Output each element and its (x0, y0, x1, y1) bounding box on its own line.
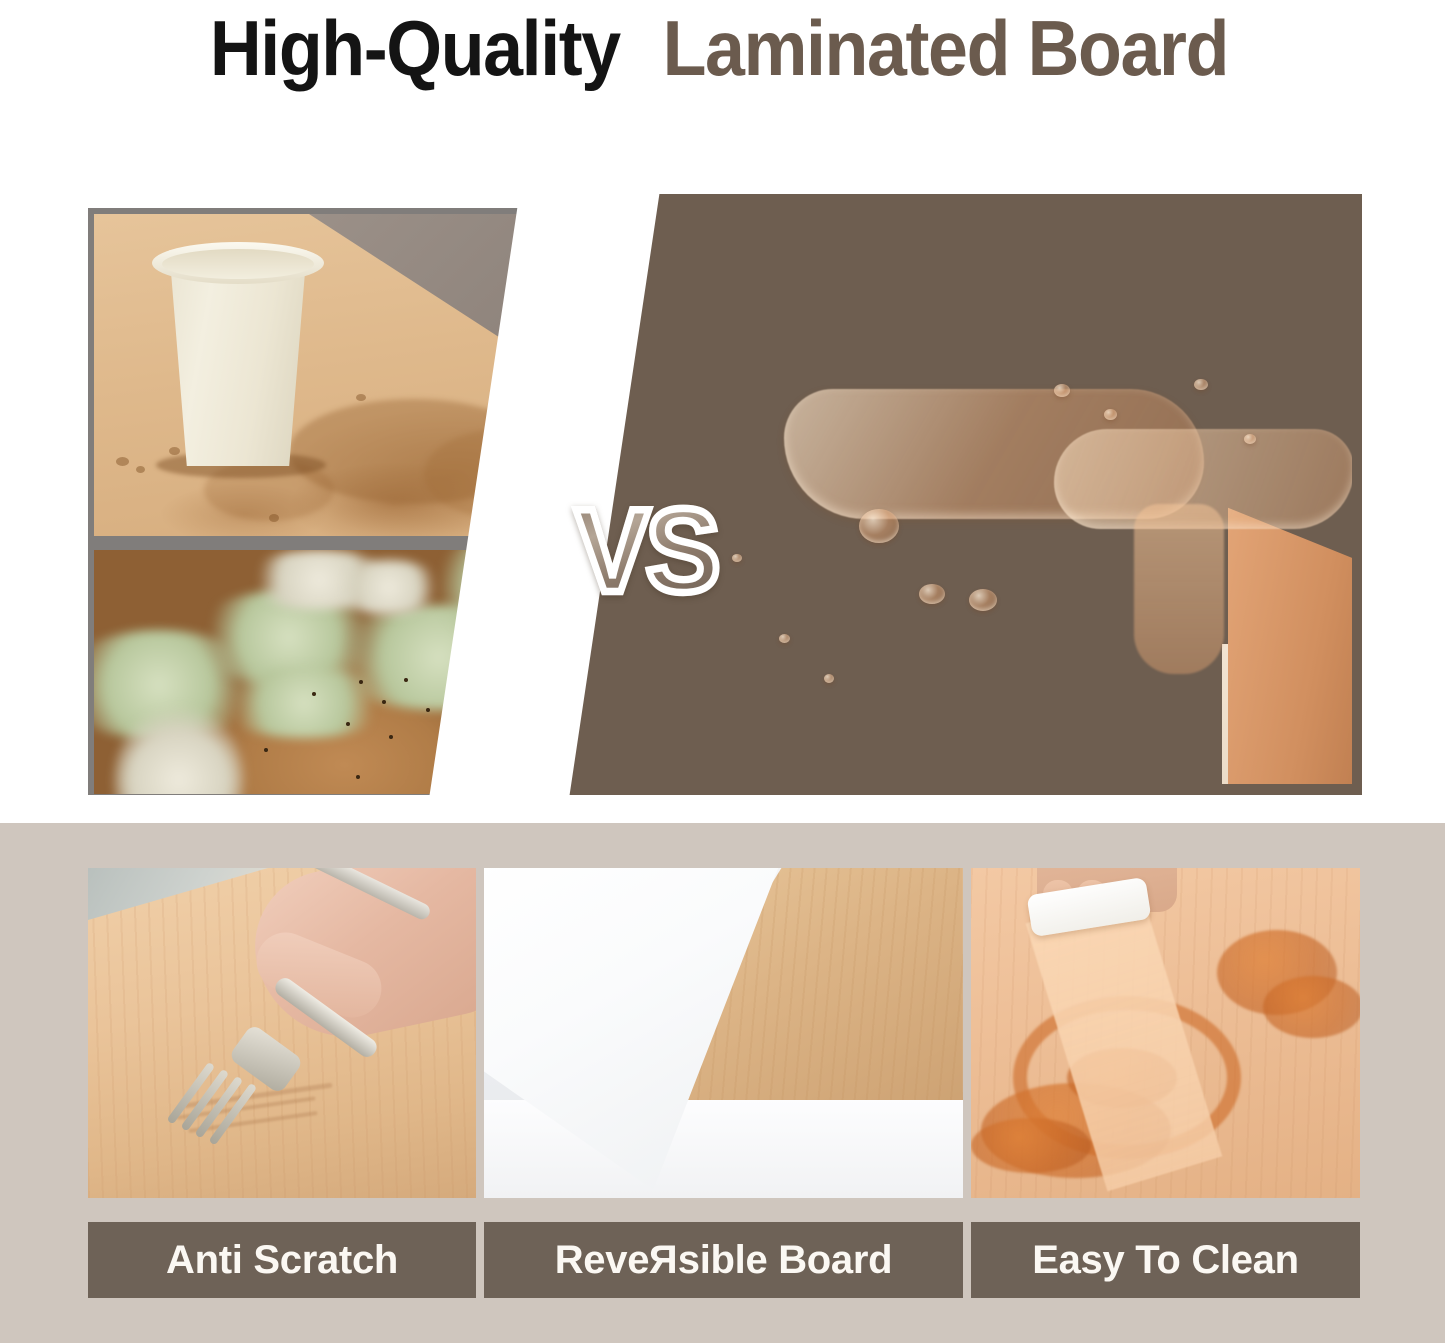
sauce-stain (971, 1118, 1091, 1173)
water-droplet (859, 509, 899, 543)
feature-caption-bar: ReveRsible Board (484, 1222, 963, 1298)
water-droplet (1194, 379, 1208, 390)
page-title-dark: High-Quality (210, 9, 620, 87)
mold-speck (264, 748, 268, 752)
liquid-droplet (169, 447, 180, 455)
mold-patch (214, 668, 394, 738)
features-section: Anti Scratch ReveRsible Board (0, 823, 1445, 1343)
page-title-brown: Laminated Board (663, 9, 1228, 87)
background-strip (88, 868, 268, 920)
ours-card-inner (634, 204, 1352, 784)
photo-reversible-board (484, 868, 963, 1198)
liquid-droplet (116, 457, 129, 466)
liquid-droplet (269, 514, 279, 522)
water-droplet (732, 554, 742, 562)
feature-tiles: Anti Scratch ReveRsible Board (88, 868, 1360, 1298)
water-droplet (779, 634, 790, 643)
water-droplet (1244, 434, 1256, 444)
feature-tile-easy-to-clean: Easy To Clean (971, 868, 1360, 1298)
mold-speck (356, 775, 360, 779)
water-droplet (1054, 384, 1070, 397)
comparison-section: Others Low Durability (0, 95, 1445, 795)
caption-part-pre: Reve (555, 1238, 649, 1282)
mold-speck (404, 678, 408, 682)
water-droplet (824, 674, 834, 683)
mold-speck (312, 692, 316, 696)
mold-speck (389, 735, 393, 739)
feature-caption: ReveRsible Board (555, 1238, 893, 1283)
mold-speck (346, 722, 350, 726)
feature-caption: Easy To Clean (1032, 1238, 1299, 1283)
water-droplet (969, 589, 997, 611)
water-droplet (919, 584, 945, 604)
photo-fork-scratch (88, 868, 476, 1198)
page-title: High-Quality Laminated Board (0, 0, 1445, 95)
mold-speck (382, 700, 386, 704)
vs-badge: VS (575, 492, 716, 611)
mirrored-r-glyph: R (649, 1238, 678, 1283)
mold-speck (426, 708, 430, 712)
sauce-stain (1263, 976, 1360, 1038)
paper-cup-rim-inner (162, 249, 314, 279)
water-droplet (1104, 409, 1117, 420)
ours-badge: Ours Strong To Water (556, 786, 1362, 795)
liquid-droplet (136, 466, 145, 473)
water-runoff (1134, 504, 1224, 674)
feature-caption-bar: Easy To Clean (971, 1222, 1360, 1298)
liquid-droplet (356, 394, 366, 401)
feature-tile-anti-scratch: Anti Scratch (88, 868, 476, 1298)
photo-wipe-clean (971, 868, 1360, 1198)
mold-speck (359, 680, 363, 684)
feature-caption: Anti Scratch (166, 1238, 398, 1283)
feature-caption-bar: Anti Scratch (88, 1222, 476, 1298)
mold-patch (334, 560, 444, 615)
feature-tile-reversible-board: ReveRsible Board (484, 868, 963, 1298)
caption-part-post: sible Board (678, 1238, 893, 1282)
